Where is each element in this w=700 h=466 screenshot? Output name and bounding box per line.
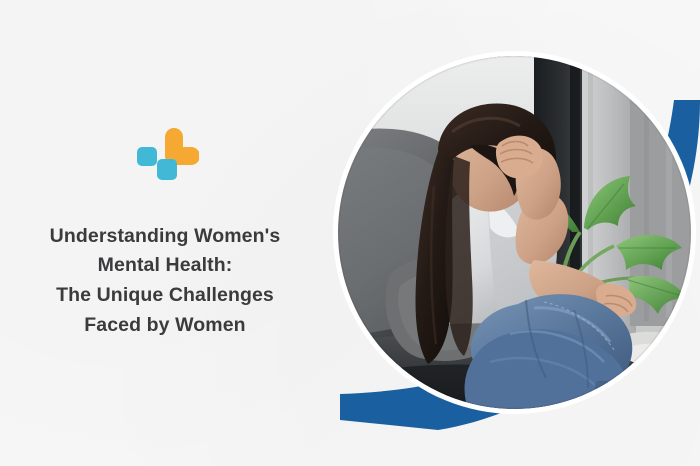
medical-plus-logo: [135, 126, 199, 188]
photo-illustration: [338, 56, 691, 409]
banner-root: Understanding Women's Mental Health: The…: [0, 0, 700, 466]
headline-line-4: Faced by Women: [15, 311, 315, 341]
headline-line-2: Mental Health:: [15, 251, 315, 281]
left-content-panel: Understanding Women's Mental Health: The…: [0, 0, 330, 466]
woman-sitting-on-couch-photo: [338, 56, 691, 409]
right-graphic-panel: [318, 0, 700, 466]
headline-line-3: The Unique Challenges: [15, 281, 315, 311]
page-title: Understanding Women's Mental Health: The…: [15, 222, 315, 341]
hero-photo-circle: [338, 56, 691, 409]
headline-line-1: Understanding Women's: [15, 222, 315, 252]
medical-plus-logo-icon: [135, 126, 199, 188]
